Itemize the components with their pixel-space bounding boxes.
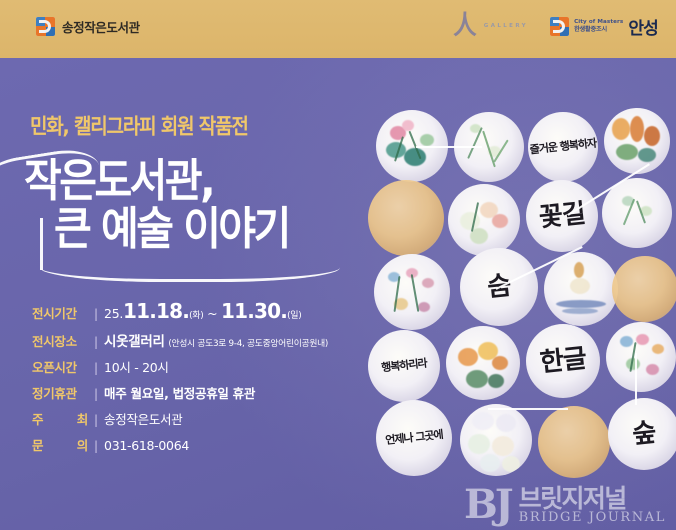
calligraphy-art: 숲 bbox=[608, 398, 676, 470]
artwork-thumbnail[interactable] bbox=[368, 180, 444, 256]
info-label-period: 전시기간 bbox=[32, 303, 94, 322]
info-row-hours: 오픈시간 | 10시 - 20시 bbox=[32, 357, 362, 376]
calligraphy-art: 즐거운 행복하자 bbox=[528, 112, 598, 182]
info-row-host: 주 최 | 송정작은도서관 bbox=[32, 409, 362, 428]
connector-line bbox=[416, 146, 482, 148]
period-start-date: 11.18. bbox=[123, 299, 189, 323]
info-row-period: 전시기간 | 25.11.18.(화) ~ 11.30.(일) bbox=[32, 299, 362, 323]
artwork-thumbnail[interactable]: 언제나 그곳에 bbox=[376, 400, 452, 476]
exhibition-info-list: 전시기간 | 25.11.18.(화) ~ 11.30.(일) 전시장소 | 시… bbox=[32, 299, 362, 461]
info-separator: | bbox=[94, 335, 98, 349]
venue-name: 시옷갤러리 bbox=[104, 334, 165, 350]
poster-subtitle: 민화, 캘리그라피 회원 작품전 bbox=[30, 110, 248, 140]
watermark-name-en: BRIDGE JOURNAL bbox=[519, 511, 666, 524]
artwork-collage: 즐거운 행복하자 bbox=[368, 96, 676, 516]
info-value-period: 25.11.18.(화) ~ 11.30.(일) bbox=[104, 299, 301, 323]
info-label-contact: 문 의 bbox=[32, 435, 94, 454]
folk-painting-art bbox=[604, 108, 670, 174]
info-value-contact: 031-618-0064 bbox=[104, 438, 189, 453]
period-year: 25. bbox=[104, 306, 123, 321]
anseong-city-logo: City of Masters 한생활중조시 안성 bbox=[550, 14, 658, 39]
info-separator: | bbox=[94, 307, 98, 321]
exhibition-poster: 송정작은도서관 人 GALLERY City of Masters 한생활중조시… bbox=[0, 0, 676, 530]
info-label-hours: 오픈시간 bbox=[32, 357, 94, 376]
folk-painting-art bbox=[602, 178, 672, 248]
gallery-logo: 人 GALLERY bbox=[452, 13, 528, 39]
poster-title: 작은도서관, 큰 예술 이야기 bbox=[24, 154, 364, 250]
calligraphy-art: 한글 bbox=[526, 324, 600, 398]
info-separator: | bbox=[94, 439, 98, 453]
artwork-thumbnail[interactable] bbox=[602, 178, 672, 248]
info-value-closed-days: 매주 월요일, 법정공휴일 휴관 bbox=[104, 383, 255, 402]
connector-line bbox=[635, 353, 637, 405]
calligraphy-art: 행복하리라 bbox=[368, 330, 440, 402]
bridge-journal-mark-icon: BJ bbox=[464, 486, 511, 524]
artwork-thumbnail[interactable] bbox=[448, 184, 520, 256]
info-label-venue: 전시장소 bbox=[32, 331, 94, 350]
anseong-tagline-kr: 한생활중조시 bbox=[574, 26, 623, 33]
artwork-thumbnail[interactable]: 숲 bbox=[608, 398, 676, 470]
bridge-journal-watermark: BJ 브릿지저널 BRIDGE JOURNAL bbox=[464, 486, 666, 524]
anseong-city-name: 안성 bbox=[628, 14, 658, 39]
info-row-closed-days: 정기휴관 | 매주 월요일, 법정공휴일 휴관 bbox=[32, 383, 362, 402]
period-end-date: 11.30. bbox=[221, 299, 287, 323]
period-end-day: (일) bbox=[287, 311, 301, 321]
calligraphy-art: 꽃길 bbox=[526, 180, 598, 252]
folk-painting-art bbox=[448, 184, 520, 256]
folk-painting-art bbox=[374, 254, 450, 330]
library-mark-icon bbox=[36, 17, 55, 36]
info-separator: | bbox=[94, 387, 98, 401]
artwork-thumbnail[interactable]: 꽃길 bbox=[526, 180, 598, 252]
info-value-hours: 10시 - 20시 bbox=[104, 357, 169, 376]
title-swoosh-stem-decoration bbox=[40, 218, 43, 270]
artwork-thumbnail[interactable] bbox=[446, 326, 520, 400]
poster-body: 민화, 캘리그라피 회원 작품전 작은도서관, 큰 예술 이야기 전시기간 | … bbox=[0, 58, 676, 530]
poster-title-line-1: 작은도서관, bbox=[24, 154, 364, 207]
artwork-thumbnail[interactable] bbox=[604, 108, 670, 174]
library-logo-label: 송정작은도서관 bbox=[62, 17, 140, 36]
gallery-wordmark: GALLERY bbox=[484, 23, 528, 29]
artwork-thumbnail[interactable] bbox=[612, 256, 676, 322]
poster-title-line-2: 큰 예술 이야기 bbox=[24, 202, 364, 255]
info-separator: | bbox=[94, 361, 98, 375]
info-label-contact-char-2: 의 bbox=[77, 435, 88, 454]
info-label-host: 주 최 bbox=[32, 409, 94, 428]
folk-painting-art bbox=[460, 404, 532, 476]
period-start-day: (화) bbox=[189, 311, 203, 321]
header-band: 송정작은도서관 人 GALLERY City of Masters 한생활중조시… bbox=[0, 0, 676, 58]
artwork-thumbnail[interactable]: 즐거운 행복하자 bbox=[528, 112, 598, 182]
artwork-thumbnail[interactable]: 행복하리라 bbox=[368, 330, 440, 402]
header-partner-logos: 人 GALLERY City of Masters 한생활중조시 안성 bbox=[452, 13, 658, 39]
info-label-closed-days: 정기휴관 bbox=[32, 383, 94, 402]
info-label-host-char-2: 최 bbox=[77, 409, 88, 428]
info-row-contact: 문 의 | 031-618-0064 bbox=[32, 435, 362, 454]
artwork-thumbnail[interactable] bbox=[460, 404, 532, 476]
connector-line bbox=[488, 408, 568, 410]
info-value-host: 송정작은도서관 bbox=[104, 409, 182, 428]
artwork-thumbnail[interactable]: 한글 bbox=[526, 324, 600, 398]
period-tilde: ~ bbox=[204, 306, 222, 321]
title-swoosh-bottom-decoration bbox=[40, 253, 340, 282]
person-figure-icon: 人 bbox=[453, 13, 476, 39]
folk-painting-art bbox=[606, 322, 676, 392]
info-label-contact-char-1: 문 bbox=[32, 435, 43, 454]
artwork-thumbnail[interactable] bbox=[374, 254, 450, 330]
library-logo: 송정작은도서관 bbox=[36, 17, 140, 36]
folk-painting-art bbox=[544, 252, 618, 326]
artwork-thumbnail[interactable] bbox=[544, 252, 618, 326]
info-separator: | bbox=[94, 413, 98, 427]
anseong-mark-icon bbox=[550, 17, 569, 36]
artwork-thumbnail[interactable] bbox=[538, 406, 610, 478]
calligraphy-art: 언제나 그곳에 bbox=[376, 400, 452, 476]
artwork-thumbnail[interactable] bbox=[606, 322, 676, 392]
info-row-venue: 전시장소 | 시옷갤러리 (안성시 공도3로 9-4, 공도중앙어린이공원내) bbox=[32, 330, 362, 350]
folk-painting-art bbox=[446, 326, 520, 400]
watermark-name-kr: 브릿지저널 bbox=[519, 486, 666, 511]
info-label-host-char-1: 주 bbox=[32, 409, 43, 428]
venue-address: (안성시 공도3로 9-4, 공도중앙어린이공원내) bbox=[168, 339, 328, 349]
info-value-venue: 시옷갤러리 (안성시 공도3로 9-4, 공도중앙어린이공원내) bbox=[104, 330, 328, 350]
